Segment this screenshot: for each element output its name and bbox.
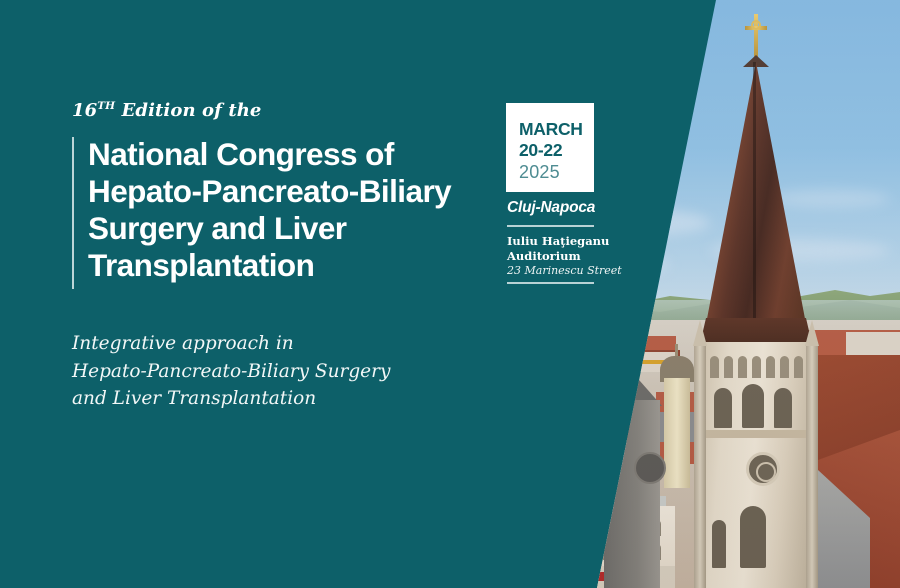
title-line-2: Hepato-Pancreato-Biliary xyxy=(88,173,508,210)
buttress xyxy=(694,342,706,588)
venue-line-1: Iuliu Haţieganu xyxy=(507,234,607,249)
construction-crane-jib xyxy=(582,360,666,364)
rooftop xyxy=(560,460,600,486)
gothic-window xyxy=(740,506,766,568)
gothic-window xyxy=(742,384,764,428)
subtitle-line-2: Hepato-Pancreato-Biliary Surgery xyxy=(72,358,492,386)
arcade-arch xyxy=(752,356,761,378)
rooftop xyxy=(560,416,630,442)
venue-street: 23 Marinescu Street xyxy=(507,264,622,277)
arcade-arch xyxy=(724,356,733,378)
gothic-window xyxy=(714,388,732,428)
city-photo-panel xyxy=(0,0,900,588)
date-month: MARCH xyxy=(519,119,594,140)
cloud xyxy=(580,210,710,236)
tower-clock xyxy=(634,452,666,484)
tower-cornice xyxy=(694,430,818,438)
buttress xyxy=(806,342,818,588)
date-days: 20-22 xyxy=(519,140,594,161)
edition-suffix-text: Edition of the xyxy=(122,100,262,121)
construction-crane-jib xyxy=(582,354,628,363)
date-card: MARCH 20-22 2025 xyxy=(506,103,594,192)
rose-window xyxy=(746,452,780,486)
rooftop xyxy=(560,372,608,394)
arcade-arch xyxy=(794,356,803,378)
cloud xyxy=(770,190,890,208)
edition-label: 16TH Edition of the xyxy=(72,100,262,121)
golden-cross-icon xyxy=(745,14,767,58)
window xyxy=(598,520,607,536)
construction-crane-mast xyxy=(616,360,620,456)
title-line-4: Transplantation xyxy=(88,247,508,284)
date-year: 2025 xyxy=(519,161,594,183)
city-label: Cluj-Napoca xyxy=(507,199,595,217)
congress-theme-subtitle: Integrative approach in Hepato-Pancreato… xyxy=(72,330,492,413)
arcade-arch xyxy=(710,356,719,378)
edition-ordinal-suffix: TH xyxy=(97,100,115,112)
arcade-arch xyxy=(766,356,775,378)
conference-banner: 16TH Edition of the National Congress of… xyxy=(0,0,900,588)
window xyxy=(580,520,589,536)
gothic-window xyxy=(774,388,792,428)
title-line-3: Surgery and Liver xyxy=(88,210,508,247)
venue-name: Iuliu Haţieganu Auditorium xyxy=(507,234,607,264)
divider-bottom xyxy=(507,282,594,284)
subtitle-line-3: and Liver Transplantation xyxy=(72,385,492,413)
title-line-1: National Congress of xyxy=(88,136,508,173)
spire-ridge xyxy=(753,62,756,324)
edition-number: 16 xyxy=(72,100,97,121)
rooftop xyxy=(560,330,614,348)
divider-top xyxy=(507,225,594,227)
venue-line-2: Auditorium xyxy=(507,249,607,264)
building-wall xyxy=(560,360,604,384)
page-title: National Congress of Hepato-Pancreato-Bi… xyxy=(88,136,508,284)
window xyxy=(580,544,589,560)
spire-base xyxy=(700,318,812,344)
subtitle-line-1: Integrative approach in xyxy=(72,330,492,358)
tower-shadow-face xyxy=(604,400,660,588)
arcade-arch xyxy=(780,356,789,378)
arcade-arch xyxy=(738,356,747,378)
gothic-window xyxy=(712,520,726,568)
cross-ring xyxy=(751,20,761,30)
title-accent-bar xyxy=(72,137,74,289)
cluj-napoca-photo xyxy=(560,0,900,588)
small-church-tower xyxy=(664,378,690,488)
